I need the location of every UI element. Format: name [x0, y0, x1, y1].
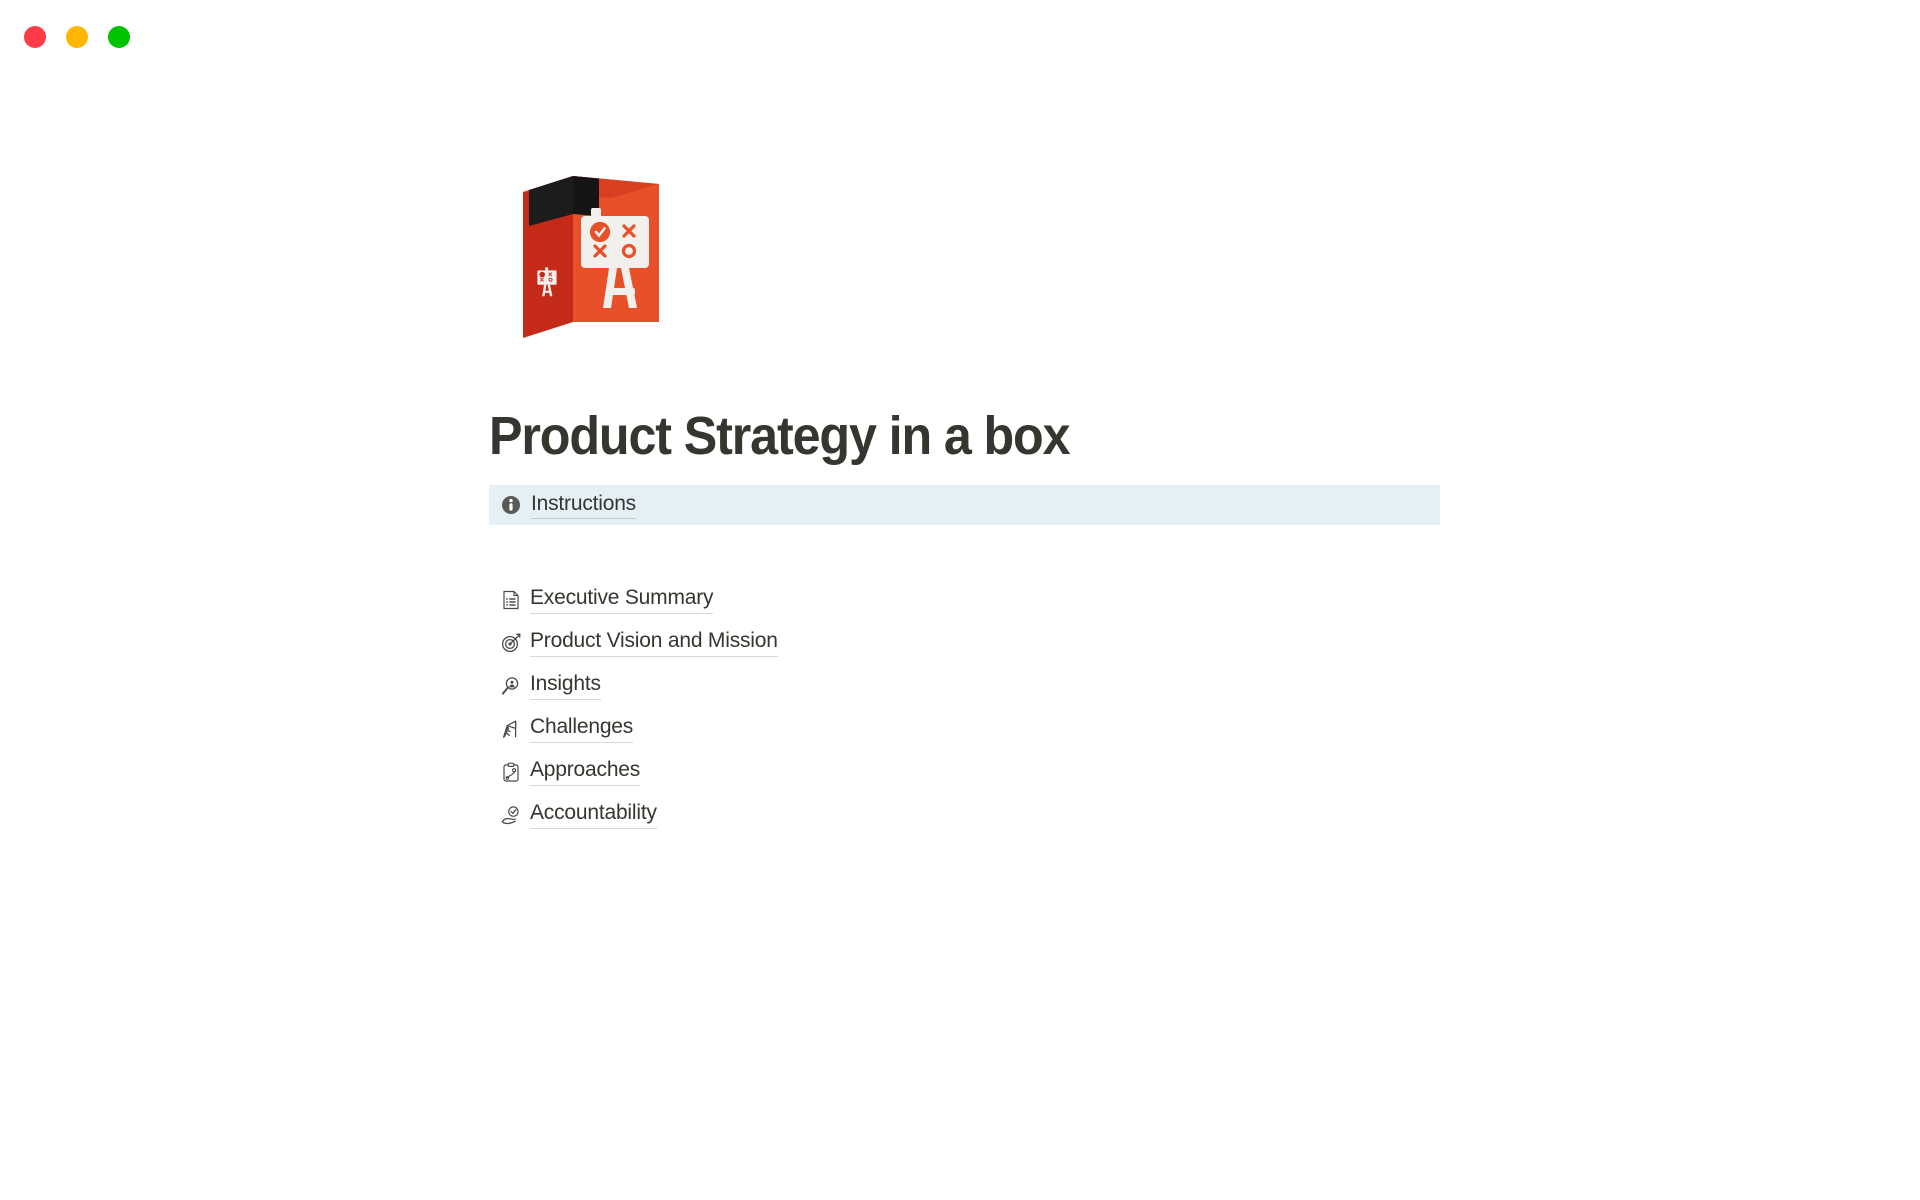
- hand-check-icon: [501, 804, 521, 826]
- page-link-label: Insights: [530, 671, 601, 700]
- magnifying-glass-icon: [501, 675, 521, 697]
- instructions-link[interactable]: Instructions: [531, 491, 636, 519]
- page-link-list: Executive Summary Product Vision and Mis…: [489, 578, 1440, 836]
- dart-target-icon: [501, 632, 521, 654]
- page-link-product-vision-and-mission[interactable]: Product Vision and Mission: [489, 621, 1440, 664]
- instructions-callout[interactable]: Instructions: [489, 485, 1440, 525]
- page-link-label: Accountability: [530, 800, 657, 829]
- page-link-approaches[interactable]: Approaches: [489, 750, 1440, 793]
- page-link-executive-summary[interactable]: Executive Summary: [489, 578, 1440, 621]
- clipboard-route-icon: [501, 761, 521, 783]
- page-icon[interactable]: [515, 170, 665, 340]
- page-link-challenges[interactable]: Challenges: [489, 707, 1440, 750]
- page-link-label: Approaches: [530, 757, 640, 786]
- page-link-label: Product Vision and Mission: [530, 628, 778, 657]
- info-circle-icon: [501, 495, 521, 515]
- climber-icon: [501, 718, 521, 740]
- page-link-label: Executive Summary: [530, 585, 713, 614]
- page-link-accountability[interactable]: Accountability: [489, 793, 1440, 836]
- document-page: Product Strategy in a box Instructions: [0, 0, 1920, 1200]
- page-title: Product Strategy in a box: [489, 405, 1419, 467]
- page-link-insights[interactable]: Insights: [489, 664, 1440, 707]
- page-link-label: Challenges: [530, 714, 633, 743]
- receipt-document-icon: [501, 589, 521, 611]
